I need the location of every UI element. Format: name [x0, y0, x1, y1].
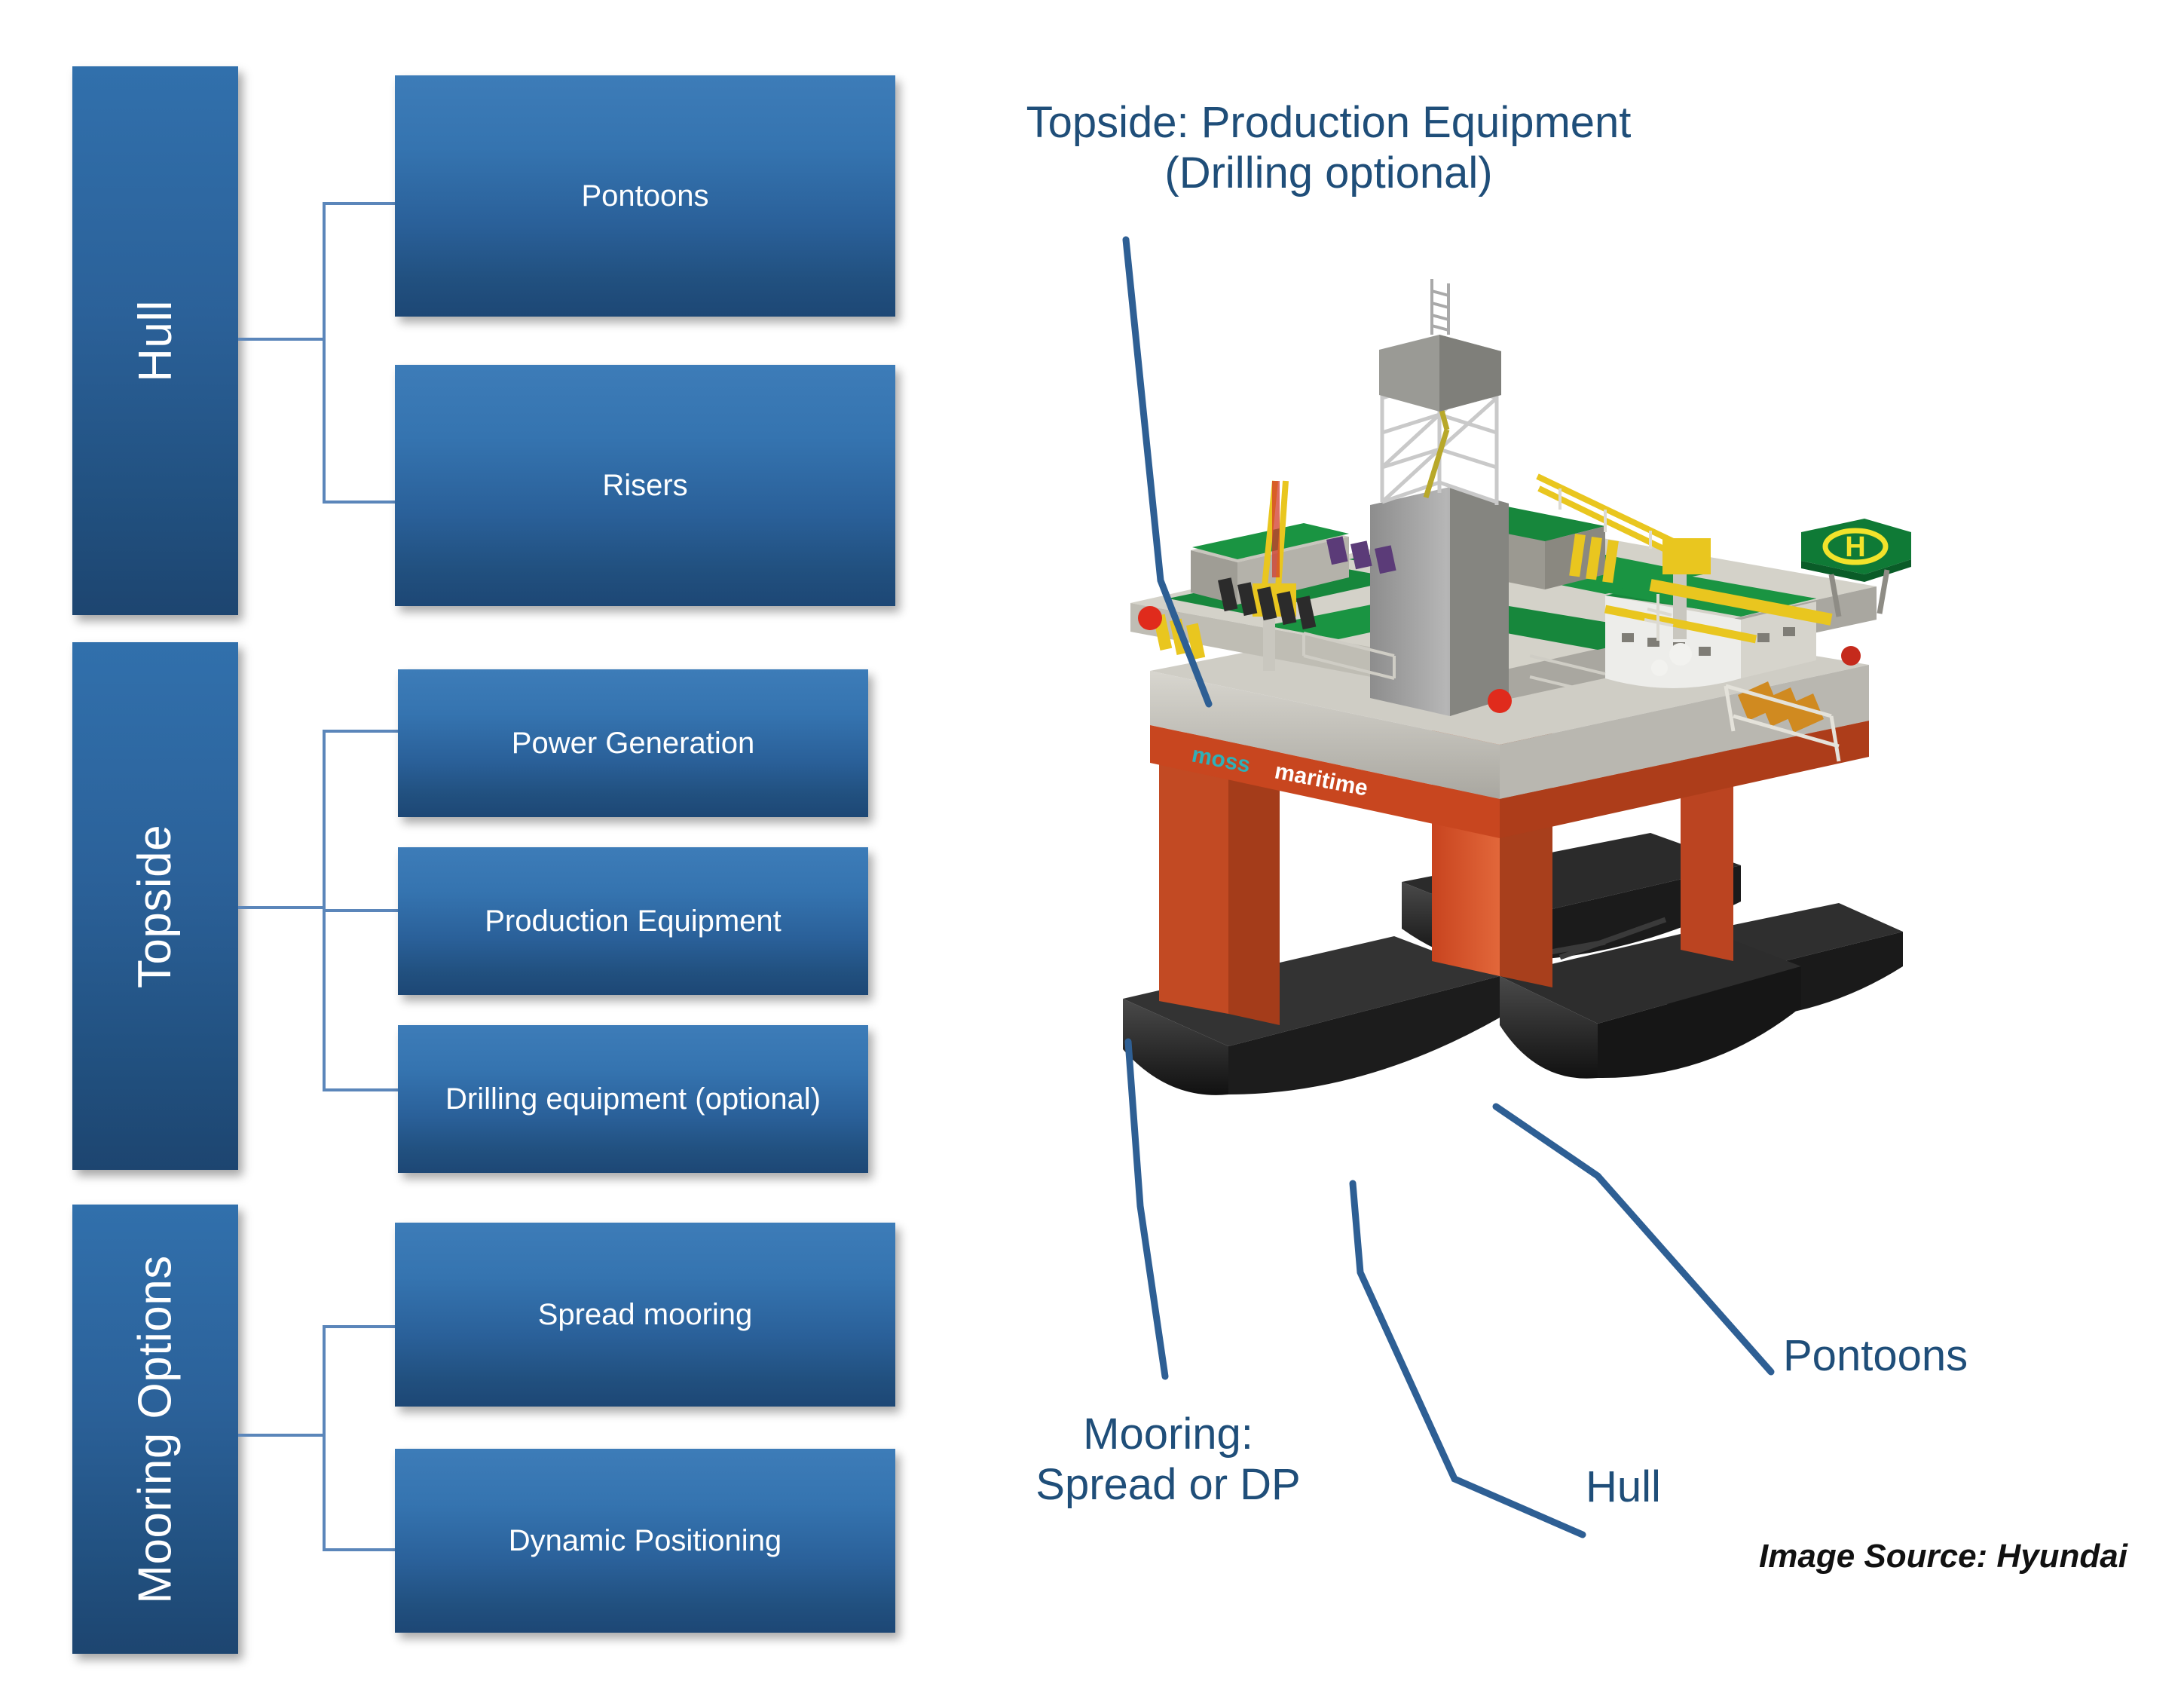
- annotation-pontoons: Pontoons: [1783, 1331, 1968, 1382]
- category-label-topside: Topside: [128, 824, 182, 987]
- leaf-label-risers: Risers: [602, 468, 687, 503]
- connector-hull-to-pontoons: [323, 202, 401, 205]
- connector-topside-to-power: [323, 730, 401, 733]
- leaf-label-drilling-equipment: Drilling equipment (optional): [445, 1082, 821, 1116]
- category-box-topside[interactable]: Topside: [72, 642, 238, 1170]
- connector-hull-spine: [323, 202, 326, 504]
- leaf-label-spread-mooring: Spread mooring: [538, 1297, 753, 1332]
- annotation-mooring: Mooring: Spread or DP: [1002, 1410, 1334, 1510]
- drilling-derrick: [1370, 279, 1509, 716]
- leaf-box-dynamic-positioning[interactable]: Dynamic Positioning: [395, 1449, 895, 1633]
- connector-topside-stem: [238, 906, 324, 909]
- category-label-mooring-options: Mooring Options: [129, 1255, 182, 1603]
- leaf-label-power-generation: Power Generation: [512, 726, 754, 761]
- leaf-box-pontoons[interactable]: Pontoons: [395, 75, 895, 317]
- leaf-label-pontoons: Pontoons: [581, 179, 708, 213]
- category-box-mooring-options[interactable]: Mooring Options: [72, 1205, 238, 1654]
- semi-submersible-rig-illustration: moss maritime: [1078, 279, 1922, 1281]
- category-label-hull: Hull: [129, 300, 182, 382]
- annotation-topside: Topside: Production Equipment (Drilling …: [948, 98, 1709, 198]
- leaf-box-risers[interactable]: Risers: [395, 365, 895, 606]
- connector-mooring-spine: [323, 1325, 326, 1551]
- annotation-hull: Hull: [1586, 1462, 1661, 1513]
- leaf-box-spread-mooring[interactable]: Spread mooring: [395, 1223, 895, 1407]
- category-box-hull[interactable]: Hull: [72, 66, 238, 615]
- leaf-label-production-equipment: Production Equipment: [485, 904, 782, 938]
- connector-mooring-to-spread: [323, 1325, 401, 1328]
- connector-topside-to-drilling: [323, 1088, 401, 1091]
- connector-hull-to-risers: [323, 501, 401, 504]
- connector-mooring-to-dp: [323, 1548, 401, 1551]
- helideck-h-marking: H: [1845, 531, 1865, 563]
- leaf-box-drilling-equipment[interactable]: Drilling equipment (optional): [398, 1025, 868, 1173]
- leaf-label-dynamic-positioning: Dynamic Positioning: [509, 1523, 782, 1558]
- connector-hull-stem: [238, 338, 324, 341]
- connector-topside-to-production: [323, 909, 401, 912]
- image-source-credit: Image Source: Hyundai: [1759, 1538, 2127, 1575]
- connector-mooring-stem: [238, 1434, 324, 1437]
- leaf-box-power-generation[interactable]: Power Generation: [398, 669, 868, 817]
- leaf-box-production-equipment[interactable]: Production Equipment: [398, 847, 868, 995]
